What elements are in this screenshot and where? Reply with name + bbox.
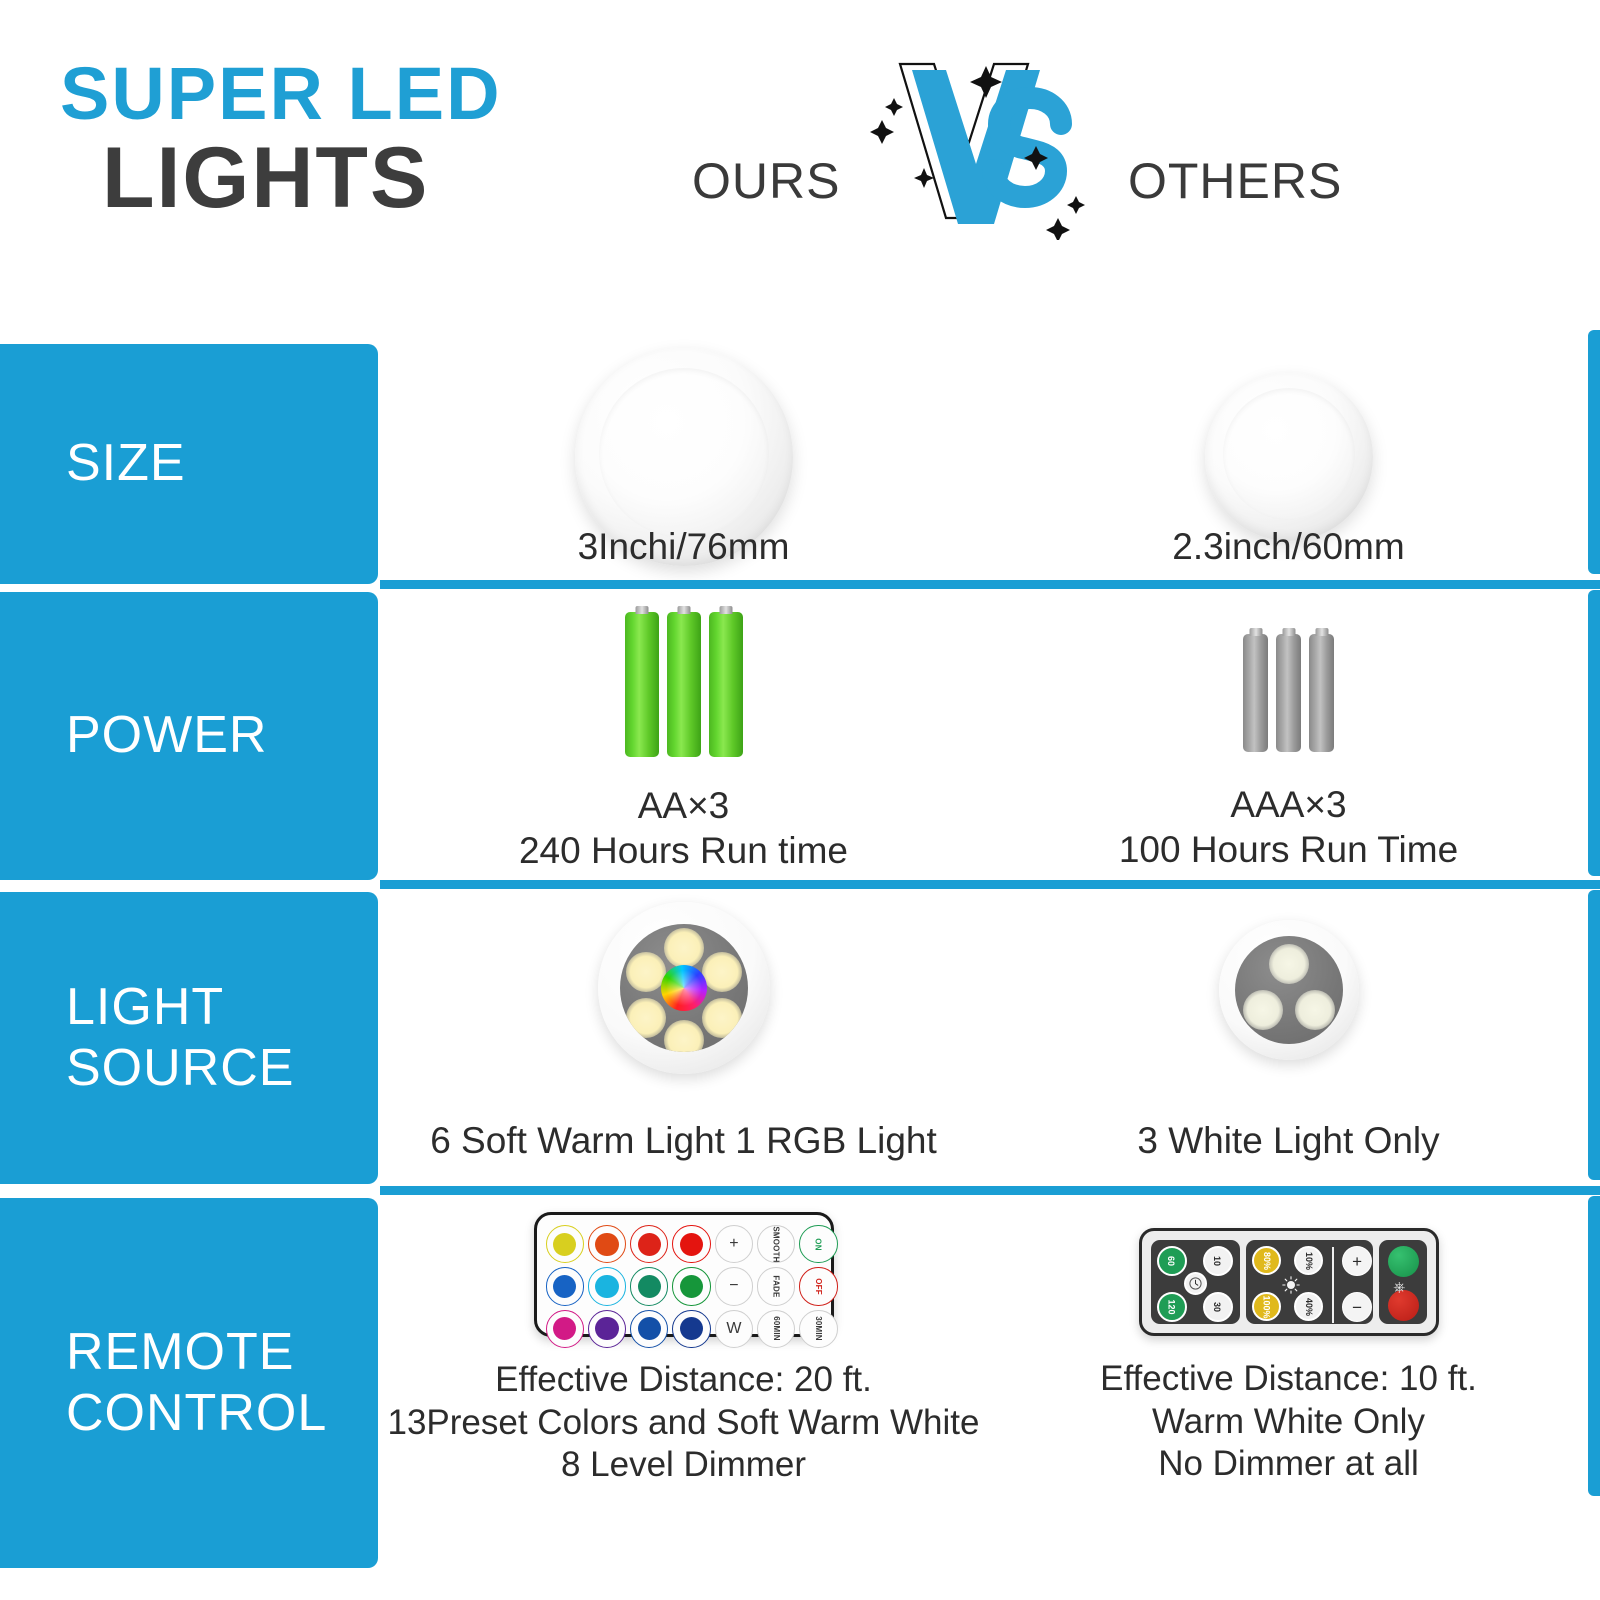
- remote-color-swatch: [638, 1275, 661, 1298]
- battery-icon: [709, 612, 743, 757]
- row-label-light-source-line1: LIGHT: [66, 978, 224, 1036]
- remote-color-swatch: [680, 1233, 703, 1256]
- row-power: POWER AA×3 240 Hours Run time AAA×3 100 …: [0, 592, 1600, 880]
- remote-button-label: −: [729, 1278, 738, 1294]
- remote-text-button-on[interactable]: ON: [799, 1225, 837, 1263]
- remote-color-swatch: [595, 1233, 618, 1256]
- remote-color-button[interactable]: [546, 1225, 584, 1263]
- remote-button-label: +: [729, 1236, 738, 1252]
- remote-text-button-smooth[interactable]: SMOOTH: [757, 1225, 795, 1263]
- battery-icon: [625, 612, 659, 757]
- row-label-panel-remote-control: REMOTE CONTROL: [0, 1198, 378, 1568]
- remote-color-button[interactable]: [672, 1225, 710, 1263]
- battery-icon: [1309, 634, 1334, 752]
- power-panel[interactable]: ⎈: [1379, 1240, 1426, 1324]
- remote-text-button-30min[interactable]: 30MIN: [799, 1310, 837, 1348]
- power-on-icon[interactable]: [1388, 1246, 1419, 1277]
- brightness-plus-button[interactable]: +: [1342, 1246, 1372, 1276]
- caption-power-ours-line1: AA×3: [638, 783, 730, 828]
- remote-color-button[interactable]: [630, 1310, 668, 1348]
- remote-symbol-button-minus[interactable]: −: [715, 1267, 753, 1305]
- row-label-size: SIZE: [66, 433, 186, 494]
- battery-icon: [1276, 634, 1301, 752]
- remote-color-swatch: [595, 1317, 618, 1340]
- brightness-80[interactable]: 80%: [1252, 1246, 1281, 1275]
- timer-dial-10[interactable]: 10: [1203, 1246, 1233, 1276]
- remote-text-button-fade[interactable]: FADE: [757, 1267, 795, 1305]
- timer-dial-30[interactable]: 30: [1203, 1292, 1233, 1322]
- remote-color-button[interactable]: [672, 1310, 710, 1348]
- remote-color-swatch: [680, 1275, 703, 1298]
- edge-bar-3: [1588, 890, 1600, 1180]
- caption-size-ours: 3Inchi/76mm: [378, 524, 989, 569]
- led-face-icon: [1219, 920, 1359, 1060]
- caption-power-others-line1: AAA×3: [1230, 782, 1346, 827]
- row-label-power: POWER: [66, 705, 267, 766]
- remote-button-label: 30MIN: [814, 1317, 823, 1342]
- battery-icon-group-aaa: [1243, 634, 1334, 752]
- remote-button-label: ON: [814, 1238, 823, 1250]
- puck-light-icon: [1205, 373, 1373, 541]
- cell-remote-others: 60 10 120 30: [989, 1198, 1588, 1568]
- caption-remote-ours-line2: 13Preset Colors and Soft Warm White: [388, 1402, 980, 1445]
- edge-bar-2: [1588, 590, 1600, 876]
- remote-color-button[interactable]: [672, 1267, 710, 1305]
- row-label-light-source-line2: SOURCE: [66, 1039, 294, 1097]
- caption-light-source-ours: 6 Soft Warm Light 1 RGB Light: [378, 1118, 989, 1163]
- remote-button-label: FADE: [772, 1275, 781, 1297]
- brightness-panel[interactable]: 80% 10% 100% 40%: [1246, 1240, 1373, 1324]
- row-remote-control: REMOTE CONTROL +SMOOTHON−FADEOFFW60MIN30…: [0, 1198, 1600, 1568]
- row-label-panel-power: POWER: [0, 592, 378, 880]
- row-label-panel-light-source: LIGHT SOURCE: [0, 892, 378, 1184]
- remote-symbol-button-plus[interactable]: +: [715, 1225, 753, 1263]
- remote-color-swatch: [553, 1317, 576, 1340]
- row-label-light-source: LIGHT SOURCE: [66, 977, 294, 1100]
- caption-remote-others-line3: No Dimmer at all: [1158, 1443, 1419, 1486]
- remote-color-button[interactable]: [588, 1310, 626, 1348]
- power-symbol-icon: ⎈: [1393, 1280, 1405, 1295]
- clock-icon: [1184, 1272, 1207, 1295]
- row-label-remote-control-line1: REMOTE: [66, 1323, 294, 1381]
- caption-power-others-line2: 100 Hours Run Time: [1119, 827, 1458, 872]
- row-divider-3: [380, 1186, 1600, 1195]
- caption-light-source-others: 3 White Light Only: [989, 1118, 1588, 1163]
- remote-color-swatch: [553, 1233, 576, 1256]
- remote-button-label: W: [726, 1321, 741, 1337]
- caption-remote-ours-line3: 8 Level Dimmer: [561, 1444, 806, 1487]
- edge-bar-4: [1588, 1196, 1600, 1496]
- remote-color-button[interactable]: [630, 1267, 668, 1305]
- rgb-wheel-icon: [661, 965, 707, 1011]
- remote-color-swatch: [638, 1317, 661, 1340]
- caption-remote-ours-line1: Effective Distance: 20 ft.: [495, 1359, 872, 1402]
- cell-power-ours: AA×3 240 Hours Run time: [378, 592, 989, 880]
- remote-button-label: 60MIN: [772, 1317, 781, 1342]
- title-line-super-led: SUPER LED: [60, 58, 502, 131]
- row-divider-2: [380, 880, 1600, 889]
- remote-color-swatch: [638, 1233, 661, 1256]
- brightness-10[interactable]: 10%: [1294, 1246, 1323, 1275]
- remote-color-button[interactable]: [630, 1225, 668, 1263]
- row-divider-1: [380, 580, 1600, 589]
- timer-dial-60[interactable]: 60: [1157, 1246, 1187, 1276]
- cell-power-others: AAA×3 100 Hours Run Time: [989, 592, 1588, 880]
- header: SUPER LED LIGHTS OURS OTHERS: [0, 0, 1600, 330]
- remote-control-icon-others[interactable]: 60 10 120 30: [1139, 1228, 1439, 1336]
- edge-bar-1: [1588, 330, 1600, 574]
- battery-icon-group-aa: [625, 612, 743, 757]
- remote-color-button[interactable]: [588, 1225, 626, 1263]
- remote-button-label: OFF: [814, 1278, 823, 1295]
- row-label-remote-control: REMOTE CONTROL: [66, 1322, 327, 1445]
- remote-symbol-button-w[interactable]: W: [715, 1310, 753, 1348]
- cell-remote-ours: +SMOOTHON−FADEOFFW60MIN30MIN Effective D…: [378, 1198, 989, 1568]
- remote-color-swatch: [553, 1275, 576, 1298]
- row-label-panel-size: SIZE: [0, 344, 378, 584]
- caption-remote-others-line1: Effective Distance: 10 ft.: [1100, 1358, 1477, 1401]
- remote-color-swatch: [595, 1275, 618, 1298]
- caption-size-others: 2.3inch/60mm: [989, 524, 1588, 569]
- ours-column-label: OURS: [692, 152, 840, 210]
- remote-color-button[interactable]: [546, 1310, 584, 1348]
- title-line-lights: LIGHTS: [102, 135, 502, 221]
- caption-remote-others-line2: Warm White Only: [1152, 1401, 1425, 1444]
- timer-panel[interactable]: 60 10 120 30: [1151, 1240, 1241, 1324]
- remote-color-button[interactable]: [546, 1267, 584, 1305]
- row-label-remote-control-line2: CONTROL: [66, 1384, 327, 1442]
- brightness-minus-button[interactable]: −: [1342, 1292, 1372, 1322]
- remote-text-button-off[interactable]: OFF: [799, 1267, 837, 1305]
- timer-dial-120[interactable]: 120: [1157, 1292, 1187, 1322]
- remote-control-icon-ours[interactable]: +SMOOTHON−FADEOFFW60MIN30MIN: [534, 1212, 834, 1337]
- led-face-icon: [598, 902, 770, 1074]
- others-column-label: OTHERS: [1128, 152, 1342, 210]
- remote-color-button[interactable]: [588, 1267, 626, 1305]
- battery-icon: [1243, 634, 1268, 752]
- sun-icon: [1282, 1276, 1300, 1299]
- remote-button-label: SMOOTH: [772, 1226, 781, 1262]
- brightness-100[interactable]: 100%: [1252, 1292, 1281, 1321]
- caption-power-ours-line2: 240 Hours Run time: [519, 828, 848, 873]
- vs-badge: [860, 50, 1120, 240]
- page-title: SUPER LED LIGHTS: [60, 58, 502, 221]
- remote-text-button-60min[interactable]: 60MIN: [757, 1310, 795, 1348]
- battery-icon: [667, 612, 701, 757]
- remote-color-swatch: [680, 1317, 703, 1340]
